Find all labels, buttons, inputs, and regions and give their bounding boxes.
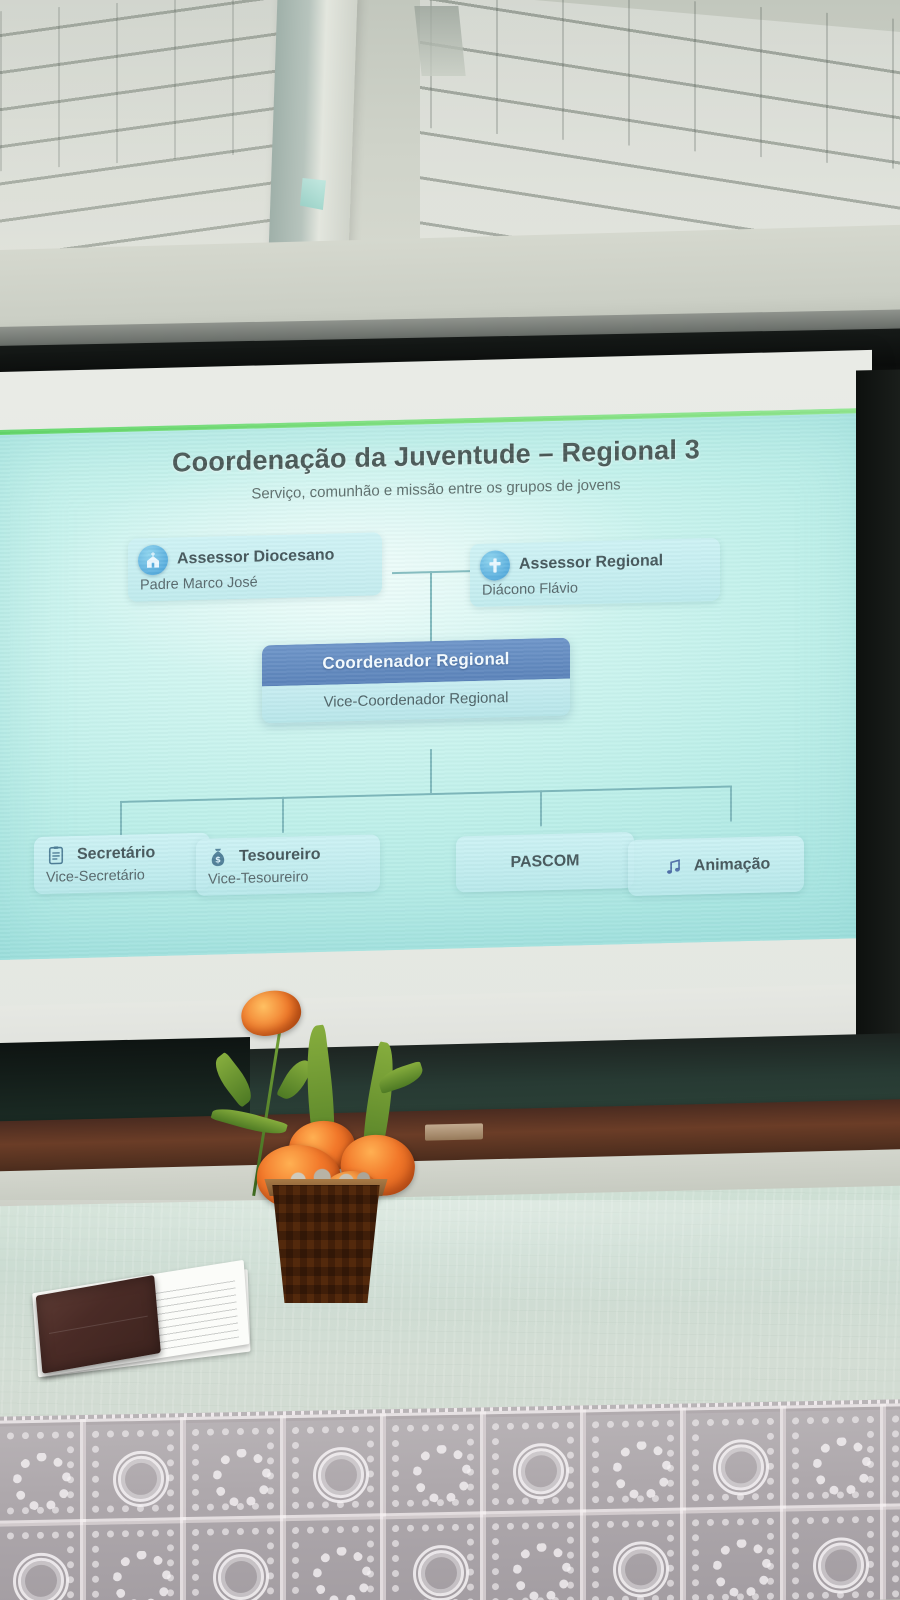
lace-medallion — [613, 1541, 669, 1598]
node-header-row: Assessor Regional — [470, 538, 720, 583]
lace-tablecloth — [0, 1399, 900, 1600]
lace-medallion — [713, 1539, 771, 1598]
lace-tile — [480, 1509, 586, 1600]
booklet-crease — [49, 1316, 148, 1334]
lace-tile — [780, 1504, 886, 1600]
lace-medallion — [513, 1443, 569, 1500]
node-pascom: PASCOM — [456, 832, 634, 893]
church-icon — [138, 545, 168, 576]
flower-leaf — [208, 1052, 259, 1108]
lace-medallion — [113, 1550, 171, 1600]
lace-medallion — [813, 1537, 869, 1594]
node-subtitle: Vice-Secretário — [34, 866, 210, 894]
wicker-basket — [265, 1185, 387, 1303]
cross-icon — [480, 550, 510, 581]
lace-medallion — [213, 1548, 269, 1600]
beam-paint-chip — [300, 178, 326, 210]
lace-tile — [380, 1411, 486, 1519]
lace-tile — [80, 1517, 186, 1600]
lace-medallion — [313, 1447, 369, 1504]
projection-screen: Coordenação da Juventude – Regional 3 Se… — [0, 350, 872, 1064]
node-title: Tesoureiro — [239, 846, 321, 866]
lace-tile — [880, 1502, 900, 1600]
lace-medallion — [713, 1439, 769, 1496]
lace-tile — [580, 1407, 686, 1515]
node-tesoureiro: $ Tesoureiro Vice-Tesoureiro — [196, 834, 380, 896]
ceiling-bracket — [414, 6, 465, 76]
projected-slide: Coordenação da Juventude – Regional 3 Se… — [0, 408, 872, 960]
node-title: Assessor Regional — [519, 552, 663, 574]
lace-medallion — [113, 1450, 169, 1507]
node-assessor-diocesano: Assessor Diocesano Padre Marco José — [128, 532, 382, 601]
node-subtitle: Vice-Tesoureiro — [196, 867, 380, 896]
node-secretario: Secretário Vice-Secretário — [34, 833, 210, 894]
lace-medallion — [513, 1543, 571, 1600]
node-assessor-regional: Assessor Regional Diácono Flávio — [470, 538, 720, 607]
money-bag-icon: $ — [206, 845, 230, 870]
orange-flower-arrangement — [205, 985, 465, 1325]
lace-tile — [80, 1417, 186, 1525]
node-header-row: Secretário — [34, 833, 210, 870]
node-header-row: Animação — [628, 836, 804, 896]
flower-bloom — [237, 985, 305, 1041]
flower-leaf — [210, 1103, 287, 1139]
node-header-row: PASCOM — [456, 832, 634, 893]
node-title: Animação — [694, 856, 770, 876]
lace-tile — [380, 1511, 486, 1600]
node-title: PASCOM — [510, 852, 579, 872]
node-coordenador-regional: Coordenador Regional Vice-Coordenador Re… — [262, 638, 570, 724]
lace-tile — [780, 1404, 886, 1512]
lace-medallion — [213, 1448, 271, 1507]
lace-tile — [0, 1419, 86, 1527]
node-header-row: Assessor Diocesano — [128, 532, 382, 577]
svg-text:$: $ — [215, 854, 221, 864]
document-icon — [44, 843, 68, 868]
lace-medallion — [613, 1441, 671, 1500]
node-animacao: Animação — [628, 836, 804, 896]
lace-medallion — [813, 1437, 871, 1496]
lace-medallion — [13, 1552, 69, 1600]
screen-surface: Coordenação da Juventude – Regional 3 Se… — [0, 350, 872, 1064]
lace-medallion — [413, 1445, 471, 1504]
lace-medallion — [413, 1545, 469, 1600]
node-title: Assessor Diocesano — [177, 547, 334, 569]
lace-medallion — [13, 1452, 71, 1511]
lace-tile — [280, 1513, 386, 1600]
screen-right-dark-edge — [856, 369, 900, 1070]
node-header-row: $ Tesoureiro — [196, 834, 380, 872]
lace-tile — [580, 1507, 686, 1600]
slide-content: Coordenação da Juventude – Regional 3 Se… — [0, 408, 872, 960]
room-scene: Coordenação da Juventude – Regional 3 Se… — [0, 0, 900, 1600]
node-subtitle: Padre Marco José — [128, 571, 382, 601]
lace-tile — [280, 1413, 386, 1521]
lace-tile — [680, 1406, 786, 1514]
node-title: Secretário — [77, 844, 155, 864]
lace-tile — [180, 1415, 286, 1523]
lace-medallion — [313, 1547, 371, 1600]
node-subtitle: Diácono Flávio — [470, 577, 720, 607]
node-subtitle: Vice-Coordenador Regional — [262, 679, 570, 724]
music-note-icon — [662, 855, 686, 880]
lace-tile — [880, 1402, 900, 1510]
lace-tile — [0, 1519, 86, 1600]
lace-tile — [680, 1506, 786, 1600]
lace-tile — [180, 1515, 286, 1600]
lace-tile — [480, 1409, 586, 1517]
